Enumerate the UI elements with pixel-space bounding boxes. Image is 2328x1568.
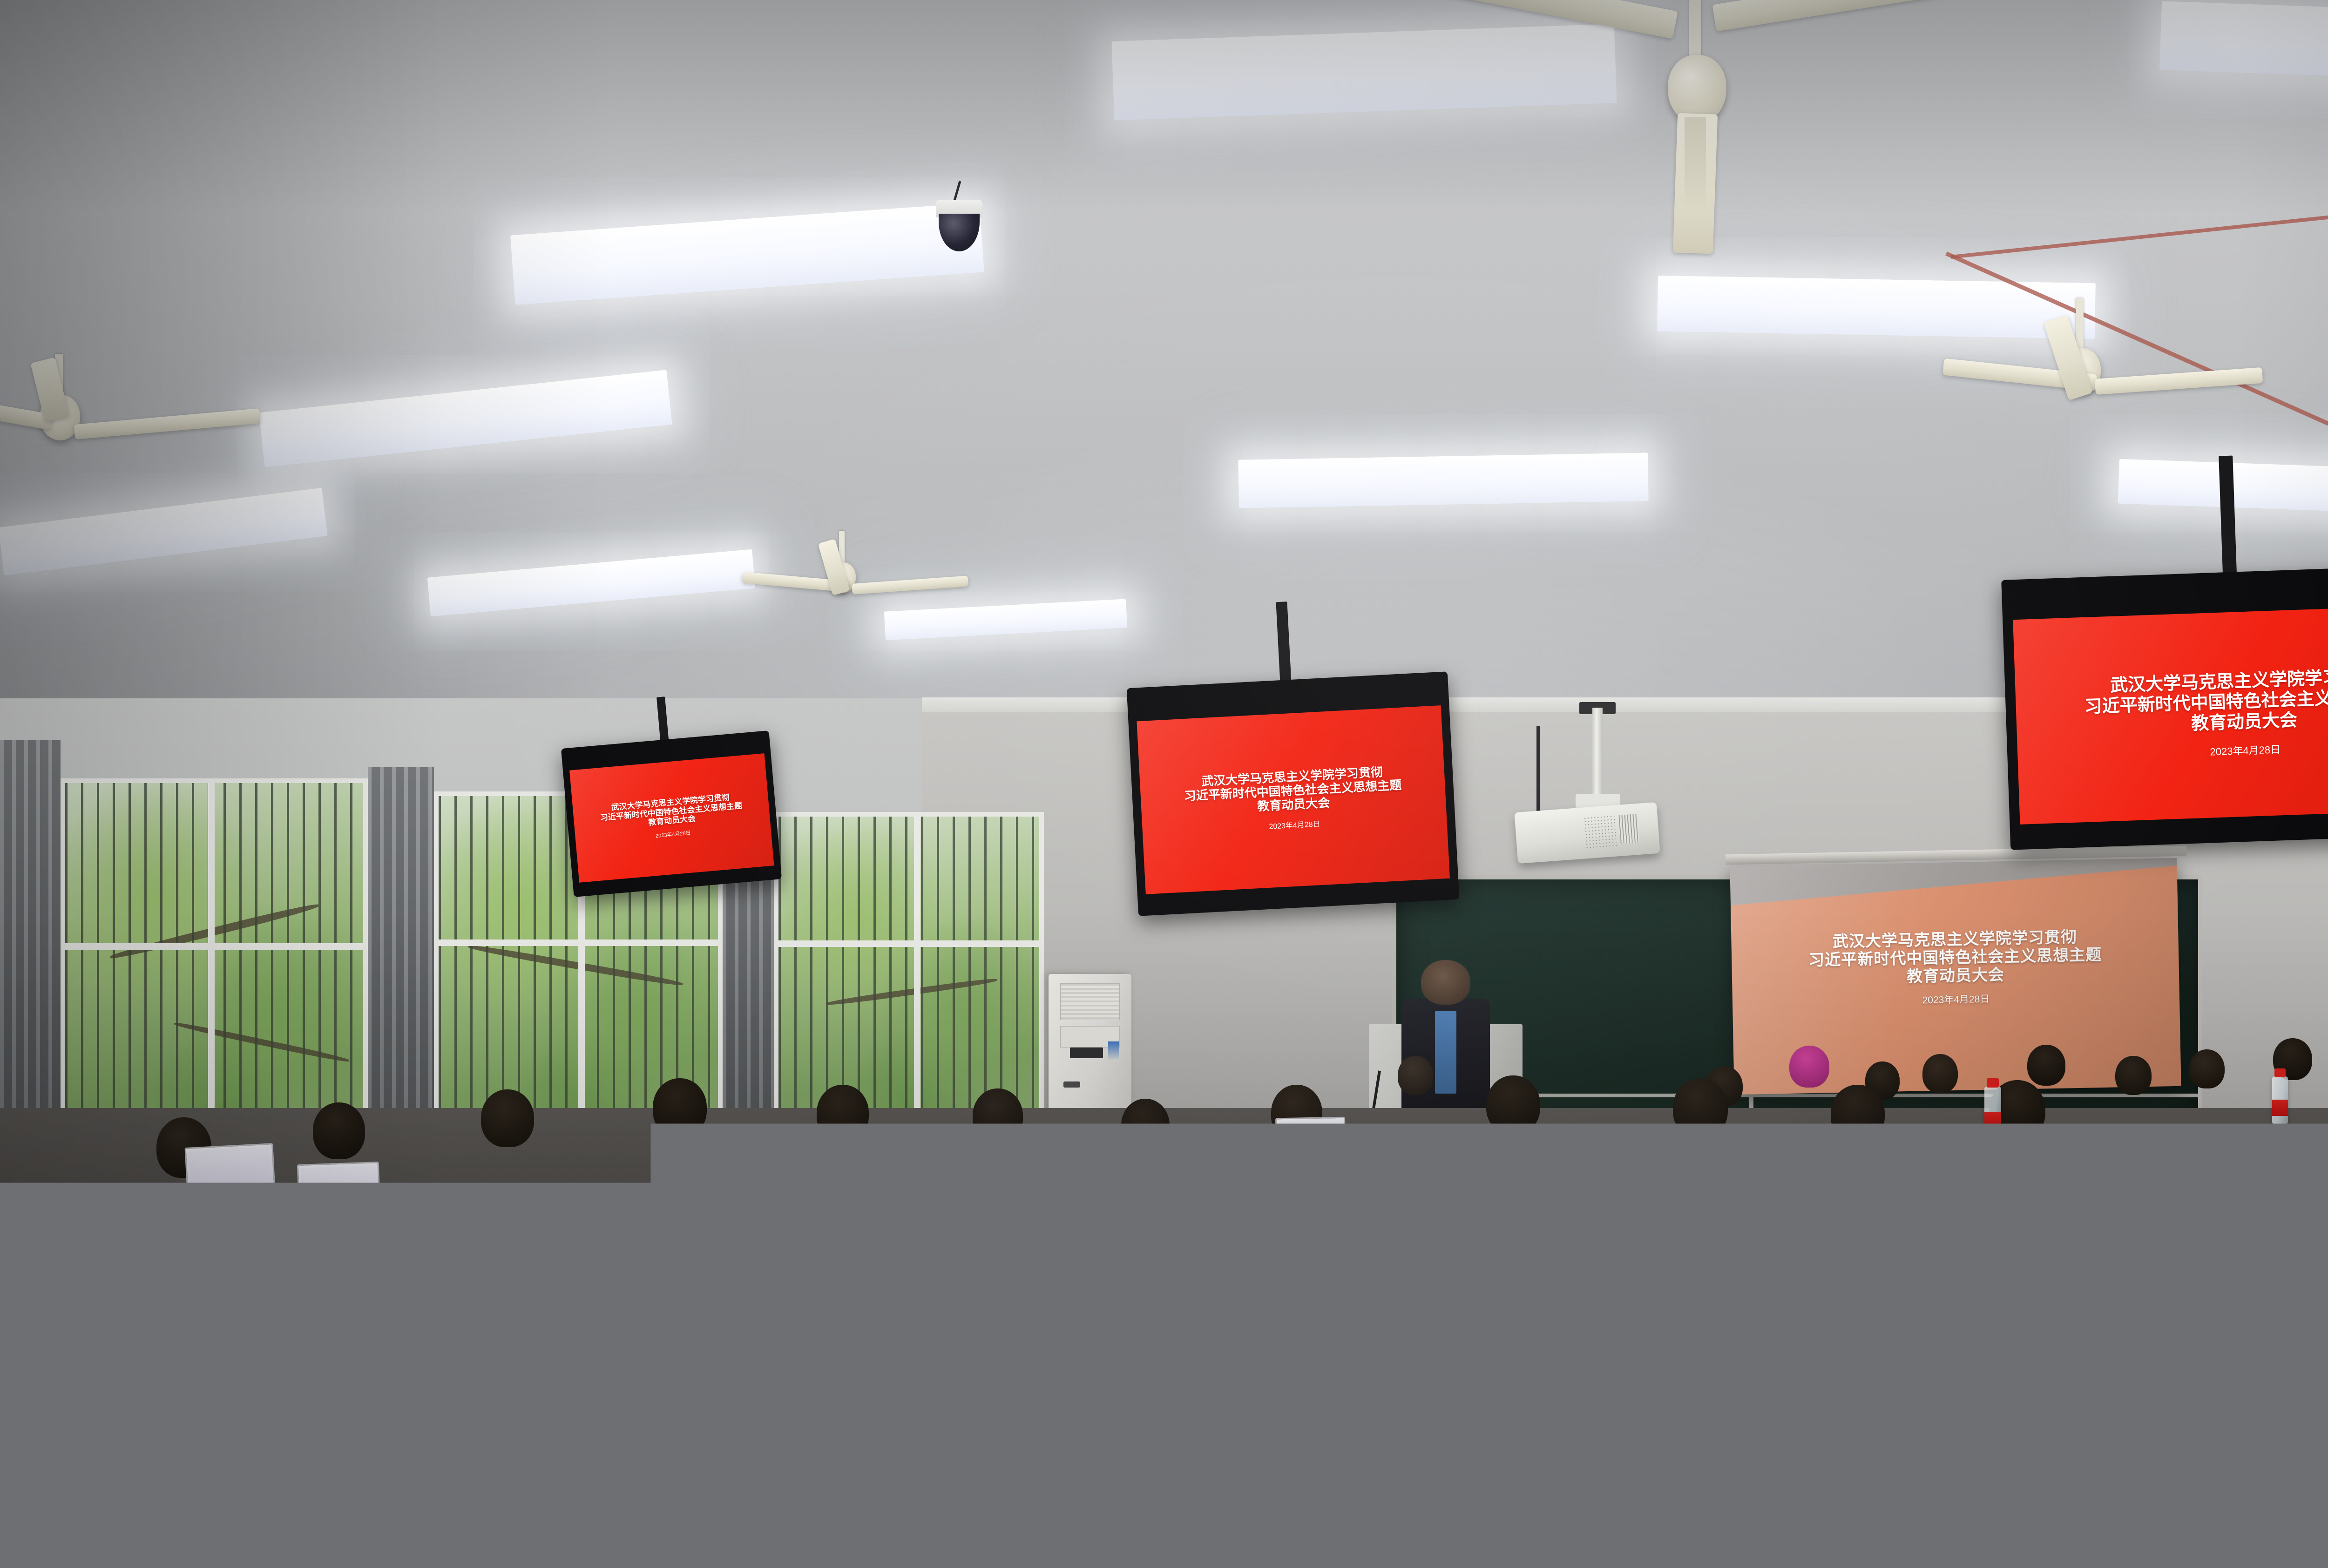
wall-display-right[interactable]: 武汉大学马克思主义学院学习贯彻 习近平新时代中国特色社会主义思想主题 教育动员大…: [2001, 563, 2328, 850]
attendee-foreground: [615, 1392, 875, 1568]
slide-line-3: 教育动员大会: [2191, 710, 2297, 734]
projector-mount-pole: [1592, 708, 1603, 799]
laptop-screen: [1275, 1117, 1346, 1159]
attendee: [802, 1085, 884, 1224]
laptop[interactable]: [184, 1143, 276, 1213]
chair[interactable]: [2142, 1439, 2300, 1568]
laptop[interactable]: [1275, 1117, 1346, 1170]
bottle-label: [1550, 1359, 1577, 1387]
attendee: [1387, 1056, 1443, 1144]
attendee: [1658, 1078, 1743, 1227]
tv-screen[interactable]: 武汉大学马克思主义学院学习贯彻 习近平新时代中国特色社会主义思想主题 教育动员大…: [569, 753, 774, 883]
backpack-strap: [1793, 1327, 1811, 1392]
laptop-screen: [184, 1143, 275, 1198]
attendee: [2105, 1056, 2162, 1147]
attendee: [466, 1089, 549, 1232]
bottle-label: [1984, 1112, 2001, 1129]
laptop[interactable]: [297, 1162, 381, 1225]
bottle-cap: [2274, 1068, 2286, 1077]
slide-date: 2023年4月28日: [1269, 818, 1320, 831]
projector-exhaust: [1619, 814, 1639, 844]
slide-date: 2023年4月28日: [655, 829, 691, 840]
wall-display-center[interactable]: 武汉大学马克思主义学院学习贯彻 习近平新时代中国特色社会主义思想主题 教育动员大…: [1127, 671, 1460, 916]
backpack[interactable]: [1723, 1364, 1839, 1518]
bottle-cap: [1987, 1078, 1999, 1088]
thermos-flask[interactable]: [1741, 1142, 1761, 1207]
classroom-scene: 武汉大学马克思主义学院学习贯彻 习近平新时代中国特色社会主义思想主题 教育动员大…: [0, 0, 2328, 1568]
tv-bezel: 武汉大学马克思主义学院学习贯彻 习近平新时代中国特色社会主义思想主题 教育动员大…: [1127, 671, 1460, 916]
attendee-foreground: [321, 1350, 563, 1568]
laptop[interactable]: [853, 1219, 972, 1311]
tv-screen[interactable]: 武汉大学马克思主义学院学习贯彻 习近平新时代中国特色社会主义思想主题 教育动员大…: [1137, 705, 1450, 894]
attendee: [959, 1088, 1036, 1222]
attendee-foreground: [1862, 1257, 2058, 1518]
attendee: [2262, 1038, 2323, 1145]
ac-display: [1070, 1048, 1103, 1058]
attendee: [1471, 1075, 1555, 1224]
water-bottle[interactable]: [2272, 1076, 2288, 1125]
desk-row-a2: [1583, 1142, 1956, 1168]
ac-energy-label: [1108, 1041, 1119, 1061]
ac-handle: [1063, 1081, 1080, 1088]
laptop-screen: [297, 1162, 380, 1211]
wall-display-left[interactable]: 武汉大学马克思主义学院学习贯彻 习近平新时代中国特色社会主义思想主题 教育动员大…: [561, 730, 782, 897]
attendee: [2179, 1049, 2235, 1145]
tv-screen[interactable]: 武汉大学马克思主义学院学习贯彻 习近平新时代中国特色社会主义思想主题 教育动员大…: [2013, 604, 2328, 825]
chair[interactable]: [1518, 1471, 1685, 1568]
water-bottle[interactable]: [1984, 1087, 2001, 1139]
bottle-cap: [1553, 1307, 1573, 1322]
attendee: [638, 1078, 722, 1223]
backpack-strap: [1740, 1327, 1759, 1392]
attendee: [1816, 1085, 1900, 1229]
bottle-label: [2272, 1100, 2288, 1116]
ceiling-projector: [1514, 802, 1660, 864]
laptop-base: [1272, 1162, 1350, 1170]
slide-date: 2023年4月28日: [2210, 741, 2281, 758]
thermos-lid: [1743, 1136, 1760, 1144]
tv-bezel: 武汉大学马克思主义学院学习贯彻 习近平新时代中国特色社会主义思想主题 教育动员大…: [2001, 563, 2328, 850]
attendee: [1912, 1054, 1969, 1147]
ac-grille: [1060, 983, 1120, 1020]
laptop-screen: [853, 1219, 971, 1292]
window-mullion: [778, 940, 1039, 947]
desk-row-front-center: [875, 1477, 1620, 1545]
tv-bezel: 武汉大学马克思主义学院学习贯彻 习近平新时代中国特色社会主义思想主题 教育动员大…: [561, 730, 782, 897]
water-bottle[interactable]: [1550, 1320, 1577, 1402]
projector-vent: [1583, 814, 1617, 848]
